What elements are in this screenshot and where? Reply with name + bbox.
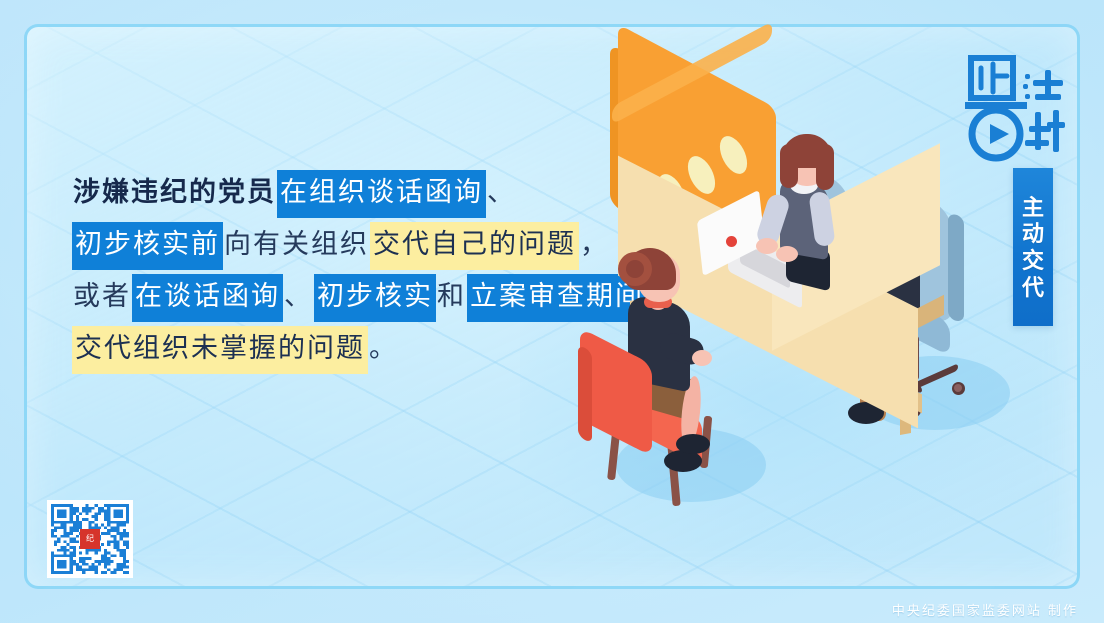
red-chair-back-edge: [578, 344, 592, 443]
qr-code[interactable]: 纪: [47, 500, 133, 578]
highlight-yellow-segment: 交代自己的问题: [370, 222, 579, 270]
headline-line: 初步核实前向有关组织交代自己的问题，: [72, 220, 632, 272]
highlight-blue-segment: 初步核实: [314, 274, 436, 322]
headline-plain-segment: 、: [486, 170, 517, 218]
headline-plain-segment: 和: [436, 274, 467, 322]
woman-hair-bun-inner: [626, 260, 644, 278]
poster-canvas: 涉嫌违纪的党员在组织谈话函询、初步核实前向有关组织交代自己的问题，或者在谈话函询…: [0, 0, 1104, 623]
highlight-blue-segment: 在组织谈话函询: [277, 170, 486, 218]
banner-char: 代: [1022, 277, 1044, 302]
highlight-blue-segment: 在谈话函询: [132, 274, 283, 322]
woman-hand: [692, 350, 712, 366]
highlight-blue-segment: 初步核实前: [72, 222, 223, 270]
banner-char: 动: [1022, 223, 1044, 248]
highlight-yellow-segment: 交代组织未掌握的问题: [72, 326, 368, 374]
headline-line: 涉嫌违纪的党员在组织谈话函询、: [72, 168, 632, 220]
woman-hand: [776, 246, 798, 262]
headline-lead-segment: 涉嫌违纪的党员: [72, 170, 277, 218]
topic-banner: 主动交代: [1013, 168, 1053, 326]
headline-text-block: 涉嫌违纪的党员在组织谈话函询、初步核实前向有关组织交代自己的问题，或者在谈话函询…: [72, 168, 632, 376]
play-icon: [990, 124, 1009, 144]
headline-plain-segment: 。: [368, 326, 399, 374]
woman-shoe: [676, 434, 710, 454]
headline-plain-segment: 向有关组织: [223, 222, 370, 270]
credit-line: 中央纪委国家监委网站 制作: [892, 600, 1078, 619]
office-chair-edge: [948, 213, 964, 323]
headline-line: 或者在谈话函询、初步核实和立案审查期间: [72, 272, 632, 324]
headline-plain-segment: 或者: [72, 274, 132, 322]
headline-line: 交代组织未掌握的问题。: [72, 324, 632, 376]
qr-seal-icon: 纪: [80, 529, 100, 549]
brand-logo: [963, 54, 1069, 166]
banner-char: 主: [1022, 197, 1044, 222]
woman-hair: [780, 144, 798, 188]
office-chair-caster: [952, 382, 965, 395]
isometric-office-scene: [560, 150, 1030, 530]
headline-plain-segment: 、: [283, 274, 314, 322]
woman-hair: [816, 144, 834, 190]
banner-char: 交: [1022, 250, 1044, 275]
laptop-logo-icon: [726, 236, 737, 247]
woman-hand: [756, 238, 778, 254]
